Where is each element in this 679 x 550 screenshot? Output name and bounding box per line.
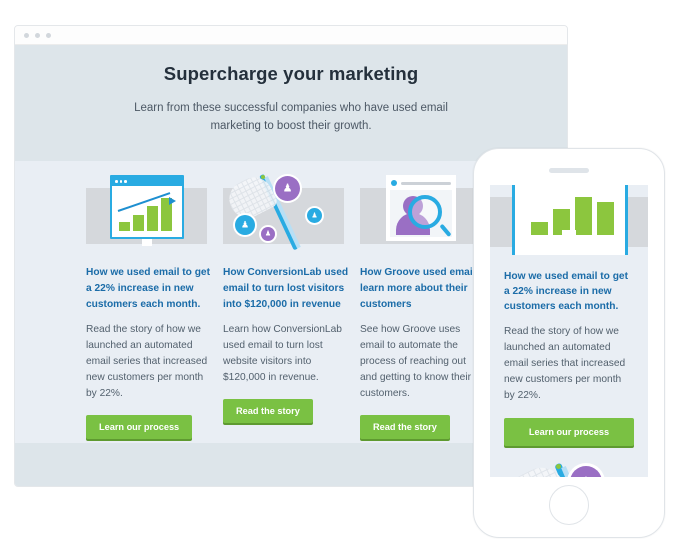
phone-card-text: How we used email to get a 22% increase … xyxy=(490,255,648,404)
browser-bar-chart-growth-icon xyxy=(490,185,648,255)
story-card-cta-button[interactable]: Learn our process xyxy=(86,415,192,439)
browser-bar-chart-growth-icon xyxy=(86,173,207,251)
story-card-body: Read the story of how we launched an aut… xyxy=(86,322,210,402)
phone-story-body: Read the story of how we launched an aut… xyxy=(504,324,634,404)
phone-mockup: How we used email to get a 22% increase … xyxy=(473,148,665,538)
window-close-dot-icon[interactable] xyxy=(24,33,29,38)
phone-home-button[interactable] xyxy=(549,485,589,525)
hero-section: Supercharge your marketing Learn from th… xyxy=(15,45,567,161)
phone-screen: How we used email to get a 22% increase … xyxy=(490,185,648,477)
page-title: Supercharge your marketing xyxy=(15,63,567,85)
window-minimize-dot-icon[interactable] xyxy=(35,33,40,38)
page-subtitle: Learn from these successful companies wh… xyxy=(126,99,456,135)
story-card-body: See how Groove uses email to automate th… xyxy=(360,322,484,402)
phone-story-cta-button[interactable]: Learn our process xyxy=(504,418,634,446)
browser-titlebar xyxy=(15,26,567,45)
phone-story-title[interactable]: How we used email to get a 22% increase … xyxy=(504,269,634,314)
story-card: How we used email to get a 22% increase … xyxy=(86,173,223,439)
screenshot-stage: Supercharge your marketing Learn from th… xyxy=(0,0,679,550)
butterfly-net-catching-users-icon: ♟ ♟ ♟ ♟ xyxy=(490,460,648,477)
story-card: ♟ ♟ ♟ ♟ How ConversionLab used email to … xyxy=(223,173,360,439)
story-card-cta-button[interactable]: Read the story xyxy=(360,415,450,439)
window-maximize-dot-icon[interactable] xyxy=(46,33,51,38)
phone-speaker-icon xyxy=(549,168,589,173)
story-card-cta-button[interactable]: Read the story xyxy=(223,399,313,423)
butterfly-net-catching-users-icon: ♟ ♟ ♟ ♟ xyxy=(223,173,344,251)
story-card-title[interactable]: How ConversionLab used email to turn los… xyxy=(223,265,351,313)
story-card-title[interactable]: How we used email to get a 22% increase … xyxy=(86,265,214,313)
story-card-list: How we used email to get a 22% increase … xyxy=(15,173,497,439)
story-card-body: Learn how ConversionLab used email to tu… xyxy=(223,322,347,386)
magnifying-glass-over-person-icon xyxy=(360,173,481,251)
story-card-title[interactable]: How Groove used email to learn more abou… xyxy=(360,265,488,313)
